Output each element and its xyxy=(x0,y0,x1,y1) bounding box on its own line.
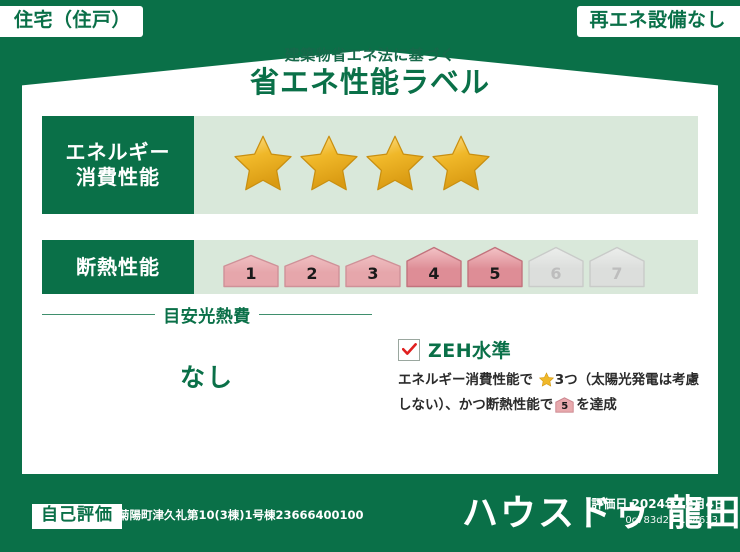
evaluation-hash: 0c783d27-…-4633 xyxy=(625,514,718,527)
zeh-desc-part2: 3つ（太陽光発電 xyxy=(555,372,659,388)
star-icon xyxy=(232,133,294,197)
insulation-level-house: 1 xyxy=(222,254,280,288)
insulation-level-number: 5 xyxy=(466,266,524,282)
insulation-level-house: 6 xyxy=(527,246,585,288)
insulation-level-scale: 1234567 xyxy=(194,240,698,294)
insulation-level-number: 7 xyxy=(588,266,646,282)
zeh-checkbox[interactable] xyxy=(398,339,420,361)
property-id-text: 菊陽町津久礼第10(3棟)1号棟23666400100 xyxy=(118,509,364,523)
insulation-level-house: 5 xyxy=(466,246,524,288)
roof-shape xyxy=(22,50,718,118)
renewable-equipment-badge: 再エネ設備なし xyxy=(577,6,740,37)
utility-cost-heading-text: 目安光熱費 xyxy=(163,302,251,327)
heading-rule-left xyxy=(42,314,155,315)
insulation-level-house: 4 xyxy=(405,246,463,288)
star-icon xyxy=(364,133,426,197)
inline-star-icon xyxy=(534,375,554,391)
house-scale-group: 1234567 xyxy=(222,246,646,288)
insulation-level-number: 1 xyxy=(222,266,280,282)
energy-performance-row: エネルギー 消費性能 xyxy=(42,116,698,214)
zeh-description: エネルギー消費性能で 3つ（太陽光発電は考慮しない）、かつ断熱性能で 5 を達成 xyxy=(398,370,708,417)
insulation-level-number: 4 xyxy=(405,266,463,282)
energy-performance-label: 住宅（住戸） 再エネ設備なし 建築物省エネ法に基づく 省エネ性能ラベル エネルギ… xyxy=(0,0,740,552)
star-icon xyxy=(298,133,360,197)
heading-rule-right xyxy=(259,314,372,315)
zeh-desc-part1: エネルギー消費性能で xyxy=(398,372,533,388)
insulation-label-line1: 断熱性能 xyxy=(76,255,160,280)
energy-performance-label-cell: エネルギー 消費性能 xyxy=(42,116,194,214)
inline-house-badge: 5 xyxy=(555,397,574,413)
utility-cost-value: なし xyxy=(42,358,372,394)
self-assessment-badge: 自己評価 xyxy=(32,504,122,529)
zeh-title: ZEH水準 xyxy=(428,336,511,363)
insulation-level-house: 2 xyxy=(283,254,341,288)
inline-house-number: 5 xyxy=(555,402,574,412)
energy-star-rating xyxy=(194,116,698,214)
utility-cost-heading: 目安光熱費 xyxy=(42,302,372,327)
evaluation-date: 評価日 2024年12月4日 xyxy=(591,497,726,513)
insulation-level-number: 3 xyxy=(344,266,402,282)
zeh-criteria-block: ZEH水準 エネルギー消費性能で 3つ（太陽光発電は考慮しない）、かつ断熱性能で… xyxy=(398,336,708,417)
star-icon xyxy=(430,133,492,197)
insulation-performance-row: 断熱性能 1234567 xyxy=(42,240,698,294)
star-rating-group xyxy=(232,133,492,197)
energy-label-line1: エネルギー xyxy=(66,140,171,165)
insulation-level-number: 6 xyxy=(527,266,585,282)
energy-label-line2: 消費性能 xyxy=(76,165,160,190)
building-type-badge: 住宅（住戸） xyxy=(0,6,143,37)
zeh-desc-part4: を達成 xyxy=(576,397,617,413)
insulation-level-number: 2 xyxy=(283,266,341,282)
insulation-performance-label-cell: 断熱性能 xyxy=(42,240,194,294)
label-footer: 自己評価 菊陽町津久礼第10(3棟)1号棟23666400100 評価日 202… xyxy=(0,478,740,552)
insulation-level-house: 3 xyxy=(344,254,402,288)
insulation-level-house: 7 xyxy=(588,246,646,288)
zeh-title-line: ZEH水準 xyxy=(398,336,708,363)
